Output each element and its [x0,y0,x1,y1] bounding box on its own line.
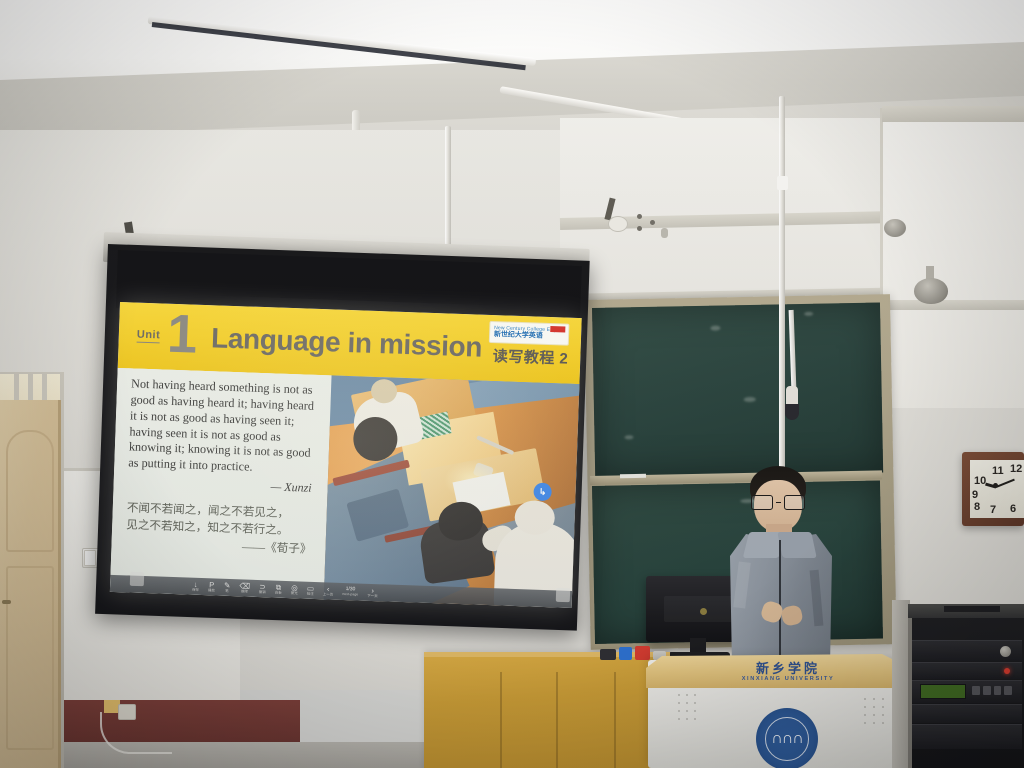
rack-unit-blank[interactable] [912,704,1022,723]
rack-top-slot [944,606,1000,612]
classroom-scene: Unit 1 Language in mission New Century C… [0,0,1024,768]
toolbar-button-undo[interactable]: ⊃ 撤销 [259,583,266,595]
rack-button[interactable] [994,686,1002,695]
toolbar-page-indicator: 1/30 next-page [342,587,358,597]
rack-button[interactable] [983,686,991,695]
glasses-lens-right [784,495,806,510]
textbook-brand-logo: New Century College English 新世纪大学英语 [489,321,570,346]
wall-hook [661,228,668,238]
slide-unit-number: 1 [166,312,198,359]
teaching-desk[interactable] [424,652,670,768]
microphone-icon [785,404,799,420]
presenter [716,466,846,666]
chalk-stick[interactable] [620,474,646,478]
desk-seam [556,672,558,768]
quote-english: Not having heard something is not as goo… [128,376,319,478]
slide-title: Language in mission [211,322,483,363]
brand-red-accent [550,326,565,333]
glasses-bridge [776,502,781,504]
door-panel-upper [6,430,54,552]
desk-items [600,644,666,660]
photo-projection-wash [324,375,580,608]
monitor-mount-screw [700,608,707,615]
chalk-smudge [744,397,756,402]
slide-body: Not having heard something is not as goo… [110,368,580,608]
toolbar-button-play[interactable]: P 播放 [208,581,215,593]
dome-camera-icon-secondary [884,219,906,237]
chalkboard-upper-panel [592,302,883,477]
presenter-collar-right [777,532,817,558]
podium-control-dots-right [862,696,890,730]
toolbar-button-save[interactable]: ↓ 保存 [192,580,199,592]
chalk-smudge [624,435,633,439]
desk-item-red-box[interactable] [635,646,650,660]
clock-number-8: 8 [974,502,980,513]
podium-university-name-cn: 新乡学院 [740,658,836,677]
clock-number-6: 6 [1010,504,1016,515]
wall-screw-icon [650,220,655,225]
quote-chinese: 不闻不若闻之，闻之不若见之， 见之不若知之，知之不若行之。 [126,501,315,540]
toolbar-button-next-page[interactable]: › 下一页 [367,587,378,599]
podium-control-dots-left [676,692,702,726]
desk-seam [614,672,616,768]
right-wall-panel-top-trim [882,106,1024,122]
hanging-wire [100,712,172,754]
hanging-rod-right [779,96,785,486]
university-seal-glyph: ∩∩∩ [765,717,809,761]
desk-item-dark-object[interactable] [600,649,616,660]
wall-screw-icon [637,214,642,219]
toolbar-button-whiteboard[interactable]: ⧉ 白板 [275,583,282,595]
toolbar-button-prev-page[interactable]: ‹ 上一页 [323,585,334,597]
toolbar-button-annotate[interactable]: ▭ 批注 [307,584,314,596]
slide-photograph: ↳ [324,375,580,608]
clock-center-pin [993,483,998,488]
wall-clock-face: 12 11 10 9 8 7 6 [970,460,1024,518]
right-wall-panel-mid-trim [882,300,1024,310]
chalk-smudge [710,326,720,331]
rack-unit-lower[interactable] [912,724,1022,749]
glasses-lens-left [751,495,773,510]
desk-seam [500,672,502,768]
hanging-rod-right-band [777,176,788,190]
projected-slide[interactable]: Unit 1 Language in mission New Century C… [110,302,582,608]
wall-screw-icon [637,226,642,231]
rack-lcd-display [920,684,966,699]
slide-unit-label: Unit [137,329,161,343]
rack-button-row[interactable] [972,686,1012,695]
dome-camera-icon [914,278,948,304]
quote-english-attribution: — Xunzi [127,475,315,497]
desk-item-blue-box[interactable] [619,647,631,660]
chalk-smudge [804,312,813,316]
toolbar-button-pen[interactable]: ✎ 笔 [224,582,231,594]
toolbar-button-spotlight[interactable]: ◎ 聚光 [291,584,298,596]
clock-number-11: 11 [992,466,1004,477]
power-led-icon [1004,668,1010,674]
clock-number-12: 12 [1010,464,1022,475]
clock-number-9: 9 [972,490,978,501]
right-wall-panel [880,108,1024,408]
podium-university-name-en: XINXIANG UNIVERSITY [728,676,848,682]
switch-toggle[interactable] [84,550,96,566]
course-name-label: 读写教程 2 [492,345,568,369]
screen-corner-tab-right [556,588,570,602]
door-handle[interactable] [2,600,11,604]
rack-button[interactable] [972,686,980,695]
wall-fixture-round [608,216,628,232]
glasses-icon [751,496,805,509]
clock-number-7: 7 [990,505,996,516]
door-panel-lower [6,566,54,750]
screen-corner-tab-left [130,572,144,586]
rack-button[interactable] [1004,686,1012,695]
university-seal-logo: ∩∩∩ [756,708,818,768]
quote-panel: Not having heard something is not as goo… [110,368,332,599]
presenter-jacket-zipper [779,540,781,666]
rack-volume-knob[interactable] [1000,646,1011,657]
toolbar-button-eraser[interactable]: ⌫ 擦除 [239,582,250,594]
